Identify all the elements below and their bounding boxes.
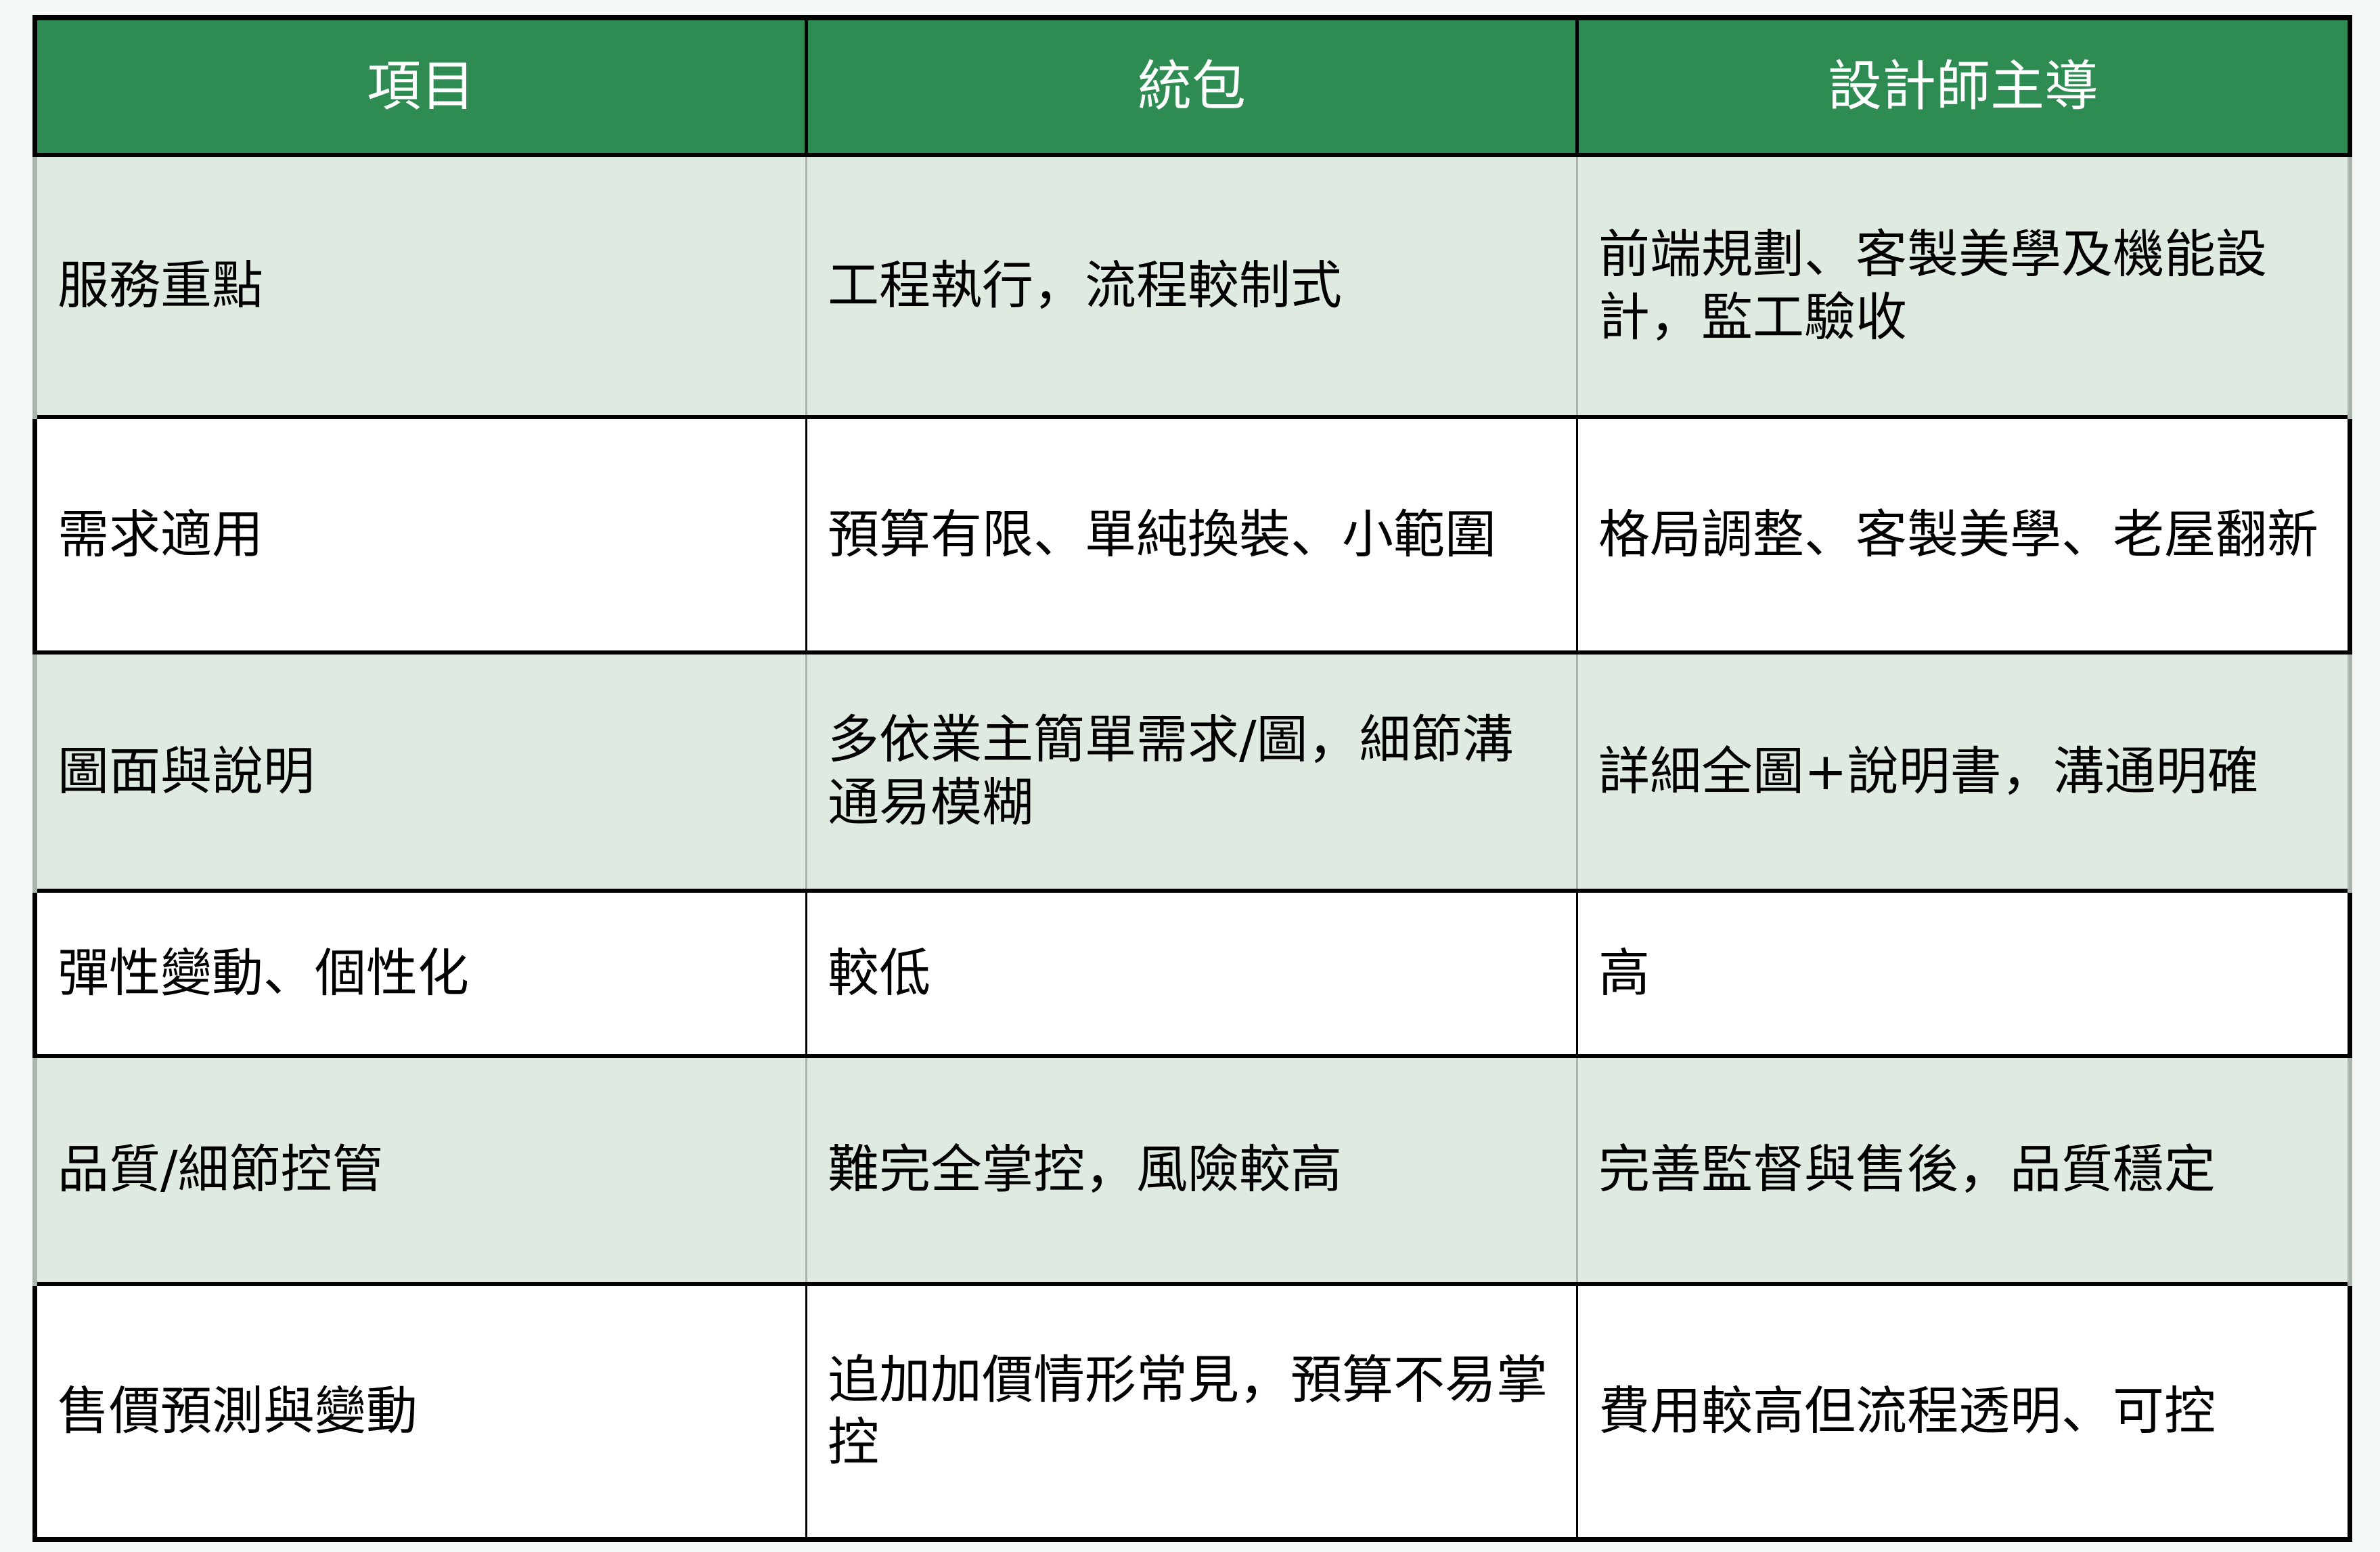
row-label-text: 圖面與說明 <box>58 740 790 803</box>
comparison-table: 項目 統包 設計師主導 服務重點 工程執行，流程較制式 前端規劃、客製美學及機能… <box>32 15 2352 1542</box>
designer-cell: 前端規劃、客製美學及機能設計，監工驗收 <box>1577 155 2350 417</box>
designer-cell: 費用較高但流程透明、可控 <box>1577 1284 2350 1539</box>
row-label-cell: 需求適用 <box>35 417 807 652</box>
header-row: 項目 統包 設計師主導 <box>35 18 2350 155</box>
column-header-designer: 設計師主導 <box>1577 18 2350 155</box>
turnkey-cell: 預算有限、單純換裝、小範圍 <box>807 417 1577 652</box>
turnkey-text: 工程執行，流程較制式 <box>828 254 1561 317</box>
row-label-cell: 服務重點 <box>35 155 807 417</box>
row-label-text: 品質/細節控管 <box>58 1138 790 1201</box>
row-label-cell: 售價預測與變動 <box>35 1284 807 1539</box>
table-row: 彈性變動、個性化 較低 高 <box>35 891 2350 1056</box>
row-label-text: 服務重點 <box>58 254 790 317</box>
designer-text: 前端規劃、客製美學及機能設計，監工驗收 <box>1598 223 2333 349</box>
turnkey-text: 追加加價情形常見，預算不易掌控 <box>828 1349 1561 1474</box>
table-row: 品質/細節控管 難完全掌控，風險較高 完善監督與售後，品質穩定 <box>35 1056 2350 1284</box>
turnkey-cell: 較低 <box>807 891 1577 1056</box>
table-row: 需求適用 預算有限、單純換裝、小範圍 格局調整、客製美學、老屋翻新 <box>35 417 2350 652</box>
designer-cell: 完善監督與售後，品質穩定 <box>1577 1056 2350 1284</box>
table-row: 服務重點 工程執行，流程較制式 前端規劃、客製美學及機能設計，監工驗收 <box>35 155 2350 417</box>
turnkey-cell: 多依業主簡單需求/圖，細節溝通易模糊 <box>807 652 1577 891</box>
designer-text: 完善監督與售後，品質穩定 <box>1598 1138 2333 1201</box>
designer-text: 格局調整、客製美學、老屋翻新 <box>1598 504 2333 567</box>
row-label-text: 彈性變動、個性化 <box>58 942 790 1005</box>
row-label-cell: 彈性變動、個性化 <box>35 891 807 1056</box>
column-header-item: 項目 <box>35 18 807 155</box>
designer-cell: 格局調整、客製美學、老屋翻新 <box>1577 417 2350 652</box>
turnkey-text: 難完全掌控，風險較高 <box>828 1138 1561 1201</box>
table-row: 售價預測與變動 追加加價情形常見，預算不易掌控 費用較高但流程透明、可控 <box>35 1284 2350 1539</box>
turnkey-cell: 工程執行，流程較制式 <box>807 155 1577 417</box>
comparison-table-container: 項目 統包 設計師主導 服務重點 工程執行，流程較制式 前端規劃、客製美學及機能… <box>32 15 2348 1536</box>
designer-cell: 詳細全圖+說明書，溝通明確 <box>1577 652 2350 891</box>
row-label-cell: 圖面與說明 <box>35 652 807 891</box>
row-label-text: 售價預測與變動 <box>58 1380 790 1443</box>
turnkey-text: 較低 <box>828 942 1561 1005</box>
turnkey-text: 多依業主簡單需求/圖，細節溝通易模糊 <box>828 709 1561 834</box>
turnkey-cell: 追加加價情形常見，預算不易掌控 <box>807 1284 1577 1539</box>
turnkey-cell: 難完全掌控，風險較高 <box>807 1056 1577 1284</box>
row-label-text: 需求適用 <box>58 504 790 567</box>
table-header: 項目 統包 設計師主導 <box>35 18 2350 155</box>
designer-text: 費用較高但流程透明、可控 <box>1598 1380 2333 1443</box>
turnkey-text: 預算有限、單純換裝、小範圍 <box>828 504 1561 567</box>
table-body: 服務重點 工程執行，流程較制式 前端規劃、客製美學及機能設計，監工驗收 需求適用… <box>35 155 2350 1539</box>
designer-text: 高 <box>1598 942 2333 1005</box>
table-row: 圖面與說明 多依業主簡單需求/圖，細節溝通易模糊 詳細全圖+說明書，溝通明確 <box>35 652 2350 891</box>
designer-cell: 高 <box>1577 891 2350 1056</box>
designer-text: 詳細全圖+說明書，溝通明確 <box>1598 740 2333 803</box>
row-label-cell: 品質/細節控管 <box>35 1056 807 1284</box>
column-header-turnkey: 統包 <box>807 18 1577 155</box>
